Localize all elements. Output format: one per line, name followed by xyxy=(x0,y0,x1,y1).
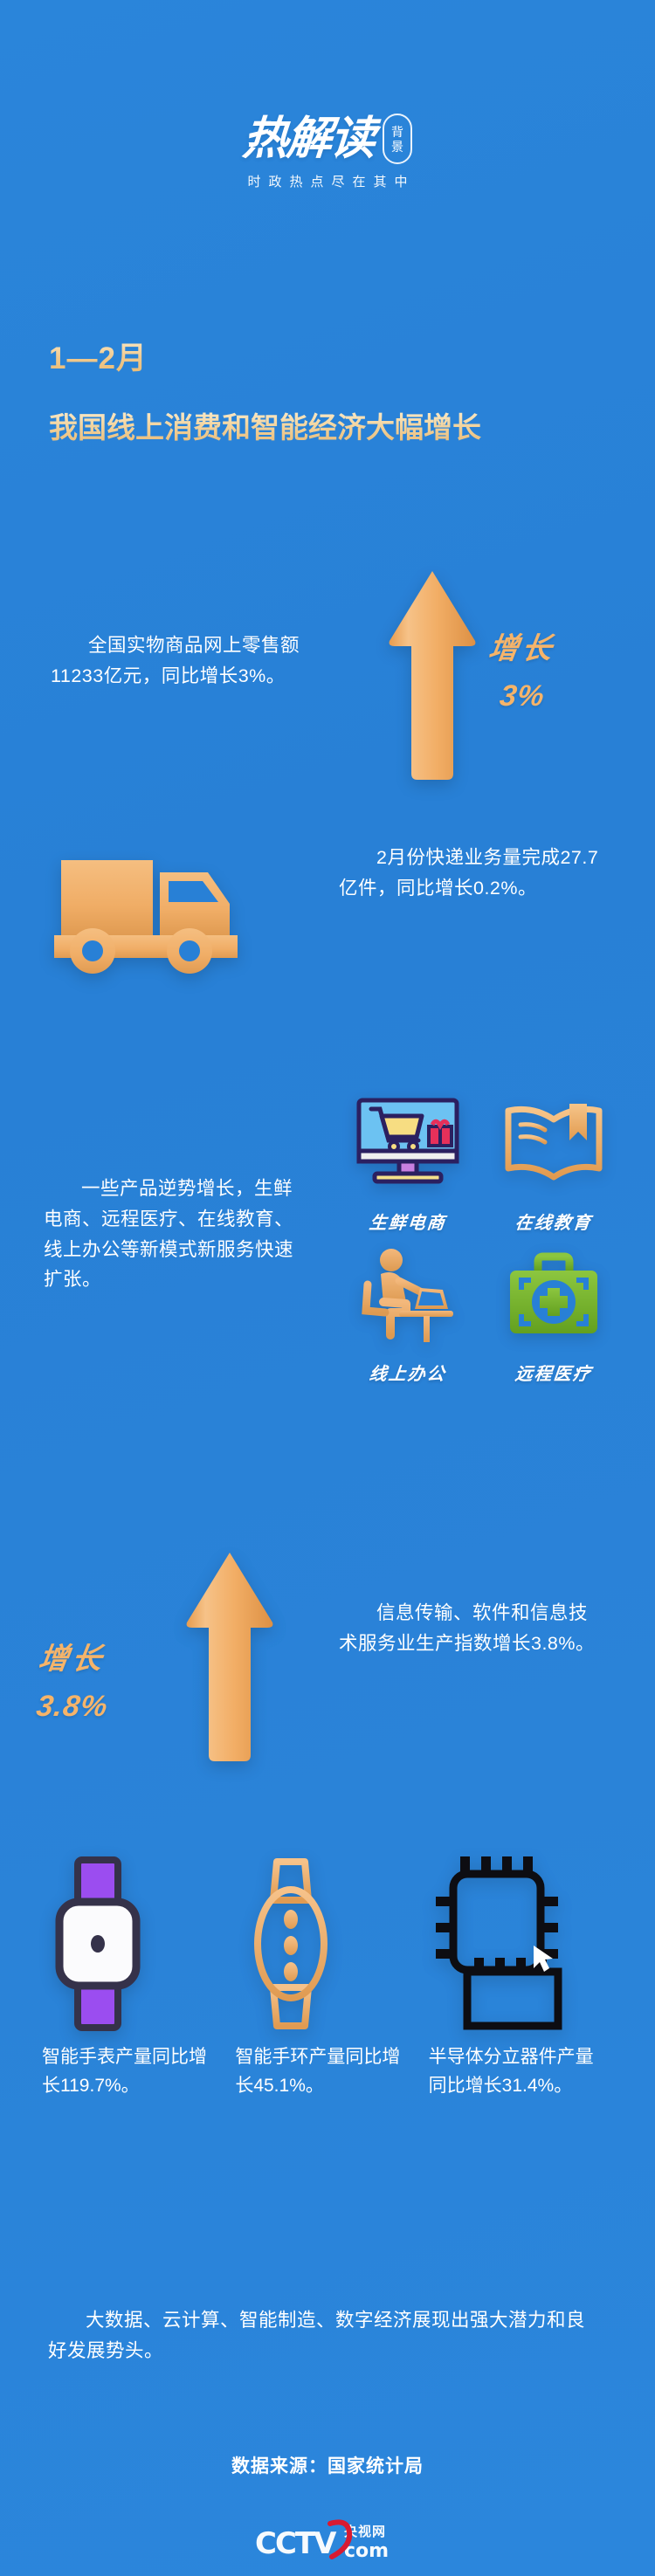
brand-header: 热解读 背 景 时政热点尽在其中 xyxy=(0,114,655,190)
product-text-smart-band: 智能手环产量同比增长45.1%。 xyxy=(235,2043,401,2100)
semiconductor-chip-icon xyxy=(429,1842,613,2043)
title-period: 1—2月 xyxy=(49,334,608,378)
arrow-up-icon xyxy=(182,1547,278,1770)
section-express-delivery: 2月份快递业务量完成27.7亿件，同比增长0.2%。 xyxy=(0,834,655,1017)
footer: 数据来源：国家统计局 CCTV com 央视网 xyxy=(0,2452,655,2566)
section-online-retail: 全国实物商品网上零售额11233亿元，同比增长3%。 增长 3% xyxy=(0,559,655,795)
person-at-desk-icon xyxy=(352,1244,464,1349)
express-delivery-text: 2月份快递业务量完成27.7亿件，同比增长0.2%。 xyxy=(339,843,601,904)
svg-text:CCTV: CCTV xyxy=(255,2526,337,2561)
product-smart-band: 智能手环产量同比增长45.1%。 xyxy=(235,1842,419,2100)
brand-subtitle: 时政热点尽在其中 xyxy=(239,172,415,190)
brand-badge-char-bottom: 景 xyxy=(391,140,403,154)
delivery-truck-icon xyxy=(54,853,255,984)
product-text-smart-watch: 智能手表产量同比增长119.7%。 xyxy=(42,2043,208,2100)
infographic-page: 热解读 背 景 时政热点尽在其中 1—2月 我国线上消费和智能经济大幅增长 全国… xyxy=(0,0,655,2576)
brand-badge: 背 景 xyxy=(383,114,412,164)
section-smart-products: 智能手表产量同比增长119.7%。 xyxy=(0,1842,655,2192)
service-item-online-education: 在线教育 xyxy=(486,1093,620,1234)
new-services-icon-grid: 生鲜电商 xyxy=(341,1093,620,1385)
new-services-text: 一些产品逆势增长，生鲜电商、远程医疗、在线教育、线上办公等新模式新服务快速扩张。 xyxy=(44,1174,306,1295)
smart-band-icon xyxy=(235,1842,419,2043)
arrow-up-icon xyxy=(384,566,480,789)
service-label-fresh-ecommerce: 生鲜电商 xyxy=(368,1209,447,1234)
product-smart-watch: 智能手表产量同比增长119.7%。 xyxy=(42,1842,226,2100)
data-source: 数据来源：国家统计局 xyxy=(231,2452,424,2478)
medical-kit-icon xyxy=(498,1244,610,1349)
title-headline: 我国线上消费和智能经济大幅增长 xyxy=(49,404,608,446)
smart-products-grid: 智能手表产量同比增长119.7%。 xyxy=(0,1842,655,2100)
section-it-services: 增长 3.8% 信息传输、软件和信息技术服务业生产指数增长3.8%。 xyxy=(0,1537,655,1781)
product-semiconductor: 半导体分立器件产量同比增长31.4%。 xyxy=(429,1842,613,2100)
service-item-telemedicine: 远程医疗 xyxy=(486,1244,620,1385)
growth-word: 增长 xyxy=(34,1635,111,1677)
service-item-remote-office: 线上办公 xyxy=(341,1244,474,1385)
section-closing: 大数据、云计算、智能制造、数字经济展现出强大潜力和良好发展势头。 xyxy=(48,2305,598,2366)
section-new-services: 一些产品逆势增长，生鲜电商、远程医疗、在线教育、线上办公等新模式新服务快速扩张。 xyxy=(0,1102,655,1469)
growth-word: 增长 xyxy=(486,624,559,667)
online-shopping-monitor-icon xyxy=(352,1093,464,1198)
service-label-telemedicine: 远程医疗 xyxy=(514,1360,593,1385)
online-retail-text: 全国实物商品网上零售额11233亿元，同比增长3%。 xyxy=(51,630,306,692)
product-text-semiconductor: 半导体分立器件产量同比增长31.4%。 xyxy=(429,2043,595,2100)
online-retail-growth-badge: 增长 3% xyxy=(489,624,555,713)
growth-value: 3% xyxy=(486,679,557,713)
it-services-text: 信息传输、软件和信息技术服务业生产指数增长3.8%。 xyxy=(339,1598,601,1659)
service-label-remote-office: 线上办公 xyxy=(368,1360,447,1385)
growth-value: 3.8% xyxy=(34,1690,110,1724)
cctv-logo: CCTV com 央视网 xyxy=(253,2515,402,2566)
brand-logo-title: 热解读 xyxy=(241,116,376,162)
brand-badge-char-top: 背 xyxy=(391,125,403,139)
service-label-online-education: 在线教育 xyxy=(514,1209,593,1234)
open-book-icon xyxy=(498,1093,610,1198)
closing-text: 大数据、云计算、智能制造、数字经济展现出强大潜力和良好发展势头。 xyxy=(48,2305,598,2366)
logo-row: 热解读 背 景 xyxy=(243,114,412,164)
service-item-fresh-ecommerce: 生鲜电商 xyxy=(341,1093,474,1234)
smart-watch-icon xyxy=(42,1842,226,2043)
page-title: 1—2月 我国线上消费和智能经济大幅增长 xyxy=(49,334,608,446)
svg-text:com: com xyxy=(344,2540,389,2562)
it-services-growth-badge: 增长 3.8% xyxy=(37,1635,108,1724)
